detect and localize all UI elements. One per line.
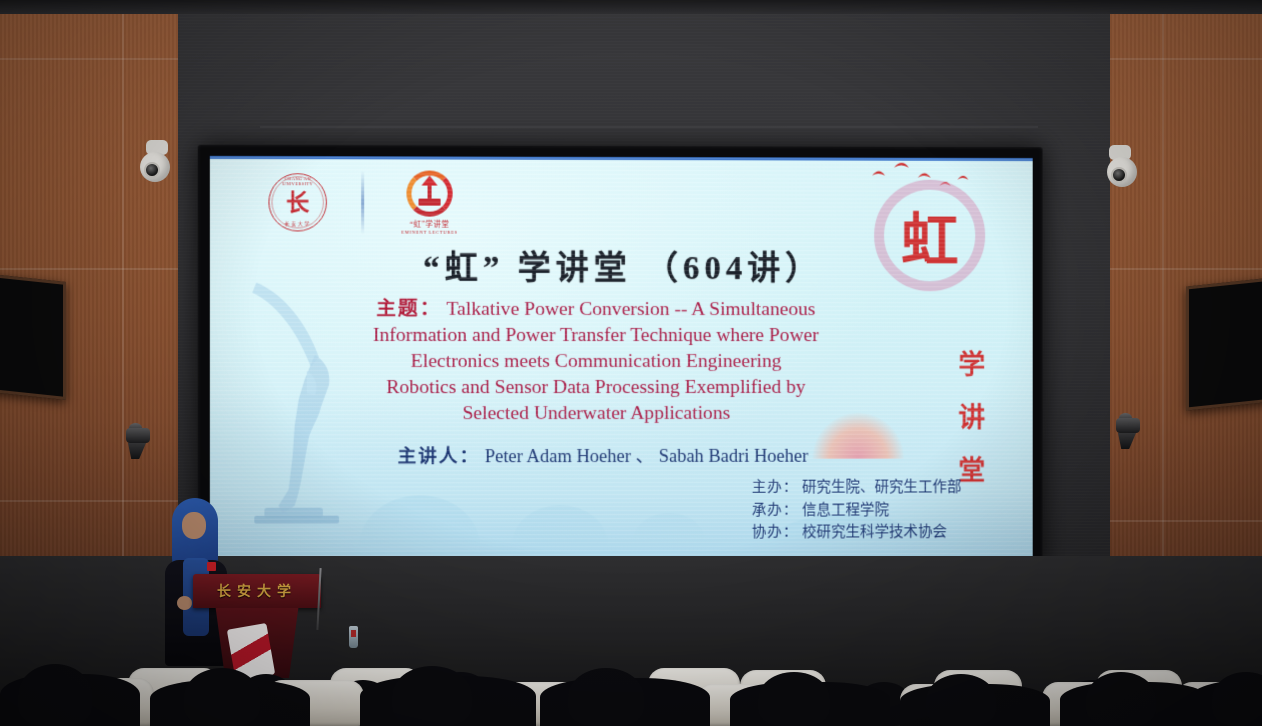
slide-speaker-block: 主讲人： Peter Adam Hoeher 、 Sabah Badri Hoe… — [321, 442, 884, 469]
organizer-value-3: 校研究生科学技术协会 — [802, 525, 947, 541]
logo-divider — [361, 170, 364, 234]
attendee-head — [758, 672, 830, 726]
organizer-label-1: 主办： — [752, 480, 799, 496]
attendee-head — [18, 664, 92, 726]
subject-text-2: Information and Power Transfer Technique… — [307, 323, 884, 349]
subject-text-4: Robotics and Sensor Data Processing Exem… — [307, 375, 884, 401]
vertical-char-2: 讲 — [958, 396, 985, 435]
subject-text-1: Talkative Power Conversion -- A Simultan… — [446, 299, 815, 320]
organizer-label-2: 承办： — [752, 502, 799, 518]
vertical-char-3: 堂 — [958, 449, 985, 488]
wall-display-right — [1186, 277, 1262, 410]
subject-text-3: Electronics meets Communication Engineer… — [307, 349, 884, 375]
eminent-lectures-torch-logo-icon: “虹”学讲堂 EMINENT LECTURES — [398, 170, 460, 234]
organizer-row-1: 主办： 研究生院、研究生工作部 — [752, 476, 962, 499]
slide-subject-block: 主题： Talkative Power Conversion -- A Simu… — [307, 297, 884, 428]
lecture-logo-english: EMINENT LECTURES — [401, 230, 457, 235]
lecture-logo-chinese: “虹”学讲堂 — [410, 219, 450, 230]
attendee-head — [184, 668, 260, 726]
wall-camera-right-icon — [1116, 418, 1146, 440]
subject-text-5: Selected Underwater Applications — [307, 401, 884, 427]
chang-an-university-seal-icon: CHANG AN UNIVERSITY 长 长安大学 — [268, 173, 326, 231]
audience-area — [0, 600, 1262, 726]
ceiling-strip — [0, 0, 1262, 14]
speaker-names: Peter Adam Hoeher 、 Sabah Badri Hoeher — [485, 447, 808, 467]
wall-display-left — [0, 274, 66, 400]
organizer-row-2: 承办： 信息工程学院 — [752, 499, 962, 522]
organizer-label-3: 协办： — [752, 525, 799, 541]
presenter-badge — [207, 562, 216, 571]
vertical-char-1: 学 — [958, 343, 985, 382]
seal-english-text: CHANG AN UNIVERSITY — [269, 176, 325, 186]
subject-line-1: 主题： Talkative Power Conversion -- A Simu… — [307, 297, 884, 323]
attendee-head — [568, 668, 644, 726]
ptz-dome-camera-left-icon — [137, 140, 173, 184]
slide-title: “虹” 学讲堂 （604讲） — [210, 240, 1033, 289]
speaker-label: 主讲人： — [398, 447, 480, 467]
slide-logos: CHANG AN UNIVERSITY 长 长安大学 “虹”学讲堂 EMINEN… — [268, 170, 460, 235]
slide-organizers-block: 主办： 研究生院、研究生工作部 承办： 信息工程学院 协办： 校研究生科学技术协… — [752, 476, 962, 544]
attendee-head — [926, 674, 996, 726]
attendee-head — [392, 666, 472, 726]
organizer-value-2: 信息工程学院 — [802, 502, 889, 518]
presenter-face — [182, 512, 206, 539]
attendee-head — [1086, 672, 1156, 726]
slide-surface: CHANG AN UNIVERSITY 长 长安大学 “虹”学讲堂 EMINEN… — [210, 156, 1033, 560]
wall-camera-left-icon — [126, 428, 156, 450]
seal-chinese-text: 长安大学 — [269, 220, 325, 227]
ptz-dome-camera-right-icon — [1104, 145, 1140, 189]
led-presentation-screen: CHANG AN UNIVERSITY 长 长安大学 “虹”学讲堂 EMINEN… — [198, 145, 1043, 572]
subject-label: 主题： — [376, 299, 441, 320]
attendee-head — [1212, 672, 1262, 726]
organizer-row-3: 协办： 校研究生科学技术协会 — [752, 521, 962, 544]
organizer-value-1: 研究生院、研究生工作部 — [802, 479, 961, 495]
podium-university-name: 长安大学 — [193, 581, 321, 601]
lecture-hall-scene: CHANG AN UNIVERSITY 长 长安大学 “虹”学讲堂 EMINEN… — [0, 0, 1262, 726]
vertical-calligraphy-column: 学 讲 堂 — [958, 343, 985, 487]
